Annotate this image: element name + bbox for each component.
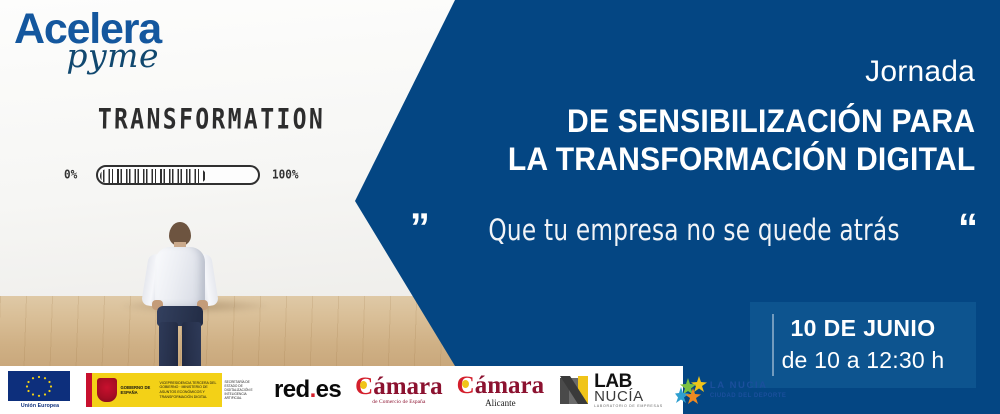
la-nucia-star-figure-icon (675, 375, 707, 405)
gob-yellow-body: GOBIERNO DE ESPAÑA VICEPRESIDENCIA TERCE… (92, 373, 222, 407)
redes-name: red (274, 376, 310, 403)
lab-nucia-tagline: LABORATORIO DE EMPRESAS (594, 405, 663, 409)
man-right-leg (182, 322, 201, 366)
tagline-row: ” Que tu empresa no se quede atrás “ (418, 205, 978, 255)
progress-bar-fill (100, 169, 206, 183)
camara-espana-logo: Cámara de Comercio de España (355, 374, 442, 405)
headline-line-2: LA TRANSFORMACIÓN DIGITAL (507, 143, 975, 175)
man-figure (143, 222, 217, 366)
man-left-leg (159, 322, 178, 366)
camara-c-icon: C (355, 374, 373, 399)
tagline-text: Que tu empresa no se quede atrás (488, 216, 899, 245)
eu-flag-icon (8, 371, 70, 401)
headline-line-1: DE SENSIBILIZACIÓN PARA (567, 105, 975, 137)
la-nucia-slogan: CIUDAD DEL DEPORTE (710, 393, 787, 399)
transformation-headline: TRANSFORMATION (97, 104, 325, 136)
progress-max-label: 100% (272, 167, 299, 182)
promo-banner: TRANSFORMATION 0% 100% Acelera pyme Jorn… (0, 0, 1000, 414)
la-nucia-logo: LA NUCIA CIUDAD DEL DEPORTE (675, 375, 787, 405)
eu-logo-caption: Unión Europea (8, 403, 72, 409)
event-date: 10 DE JUNIO (750, 315, 976, 342)
quote-close-icon: “ (958, 208, 978, 248)
lab-nucia-logo: LAB NUCÍA LABORATORIO DE EMPRESAS (558, 371, 663, 409)
camara-alicante-rest: ámara (475, 372, 544, 399)
gobierno-espana-logo: GOBIERNO DE ESPAÑA VICEPRESIDENCIA TERCE… (86, 373, 262, 407)
gob-text-3: SECRETARÍA DE ESTADO DE DIGITALIZACIÓN E… (222, 380, 262, 401)
gob-white-body: SECRETARÍA DE ESTADO DE DIGITALIZACIÓN E… (222, 373, 262, 407)
redes-logo: red.es (274, 376, 341, 404)
camara-alicante-logo: Cámara Alicante (457, 373, 544, 408)
gob-text-1: GOBIERNO DE ESPAÑA (121, 385, 157, 396)
lab-nucia-n-icon (558, 374, 592, 406)
lab-nucia-wordmark: LAB NUCÍA LABORATORIO DE EMPRESAS (594, 372, 663, 409)
la-nucia-name: LA NUCIA (710, 381, 787, 391)
sponsor-logo-bar: Unión Europea GOBIERNO DE ESPAÑA VICEPRE… (0, 366, 683, 414)
camara-espana-subtitle: de Comercio de España (355, 400, 442, 405)
camara-alicante-wordmark: Cámara (457, 373, 544, 398)
camara-c-icon: C (457, 373, 475, 398)
man-torso (155, 247, 205, 309)
gob-text-2: VICEPRESIDENCIA TERCERA DEL GOBIERNO · M… (160, 381, 222, 400)
lab-nucia-nucia-text: NUCÍA (594, 389, 663, 404)
event-time: de 10 a 12:30 h (750, 347, 976, 374)
acelera-pyme-logo: Acelera pyme (14, 8, 161, 72)
eu-stars-icon (8, 371, 70, 401)
la-nucia-wordmark: LA NUCIA CIUDAD DEL DEPORTE (710, 381, 787, 399)
redes-suffix: es (316, 376, 342, 403)
camara-espana-wordmark: Cámara (355, 374, 442, 399)
headline-kicker: Jornada (865, 57, 975, 87)
progress-min-label: 0% (64, 167, 77, 182)
camara-espana-rest: ámara (373, 373, 442, 400)
european-union-logo: Unión Europea (8, 371, 72, 409)
progress-bar-track (96, 165, 260, 185)
spain-coat-of-arms-icon (97, 378, 117, 402)
quote-open-icon: ” (410, 208, 430, 248)
camara-alicante-subtitle: Alicante (457, 399, 544, 408)
